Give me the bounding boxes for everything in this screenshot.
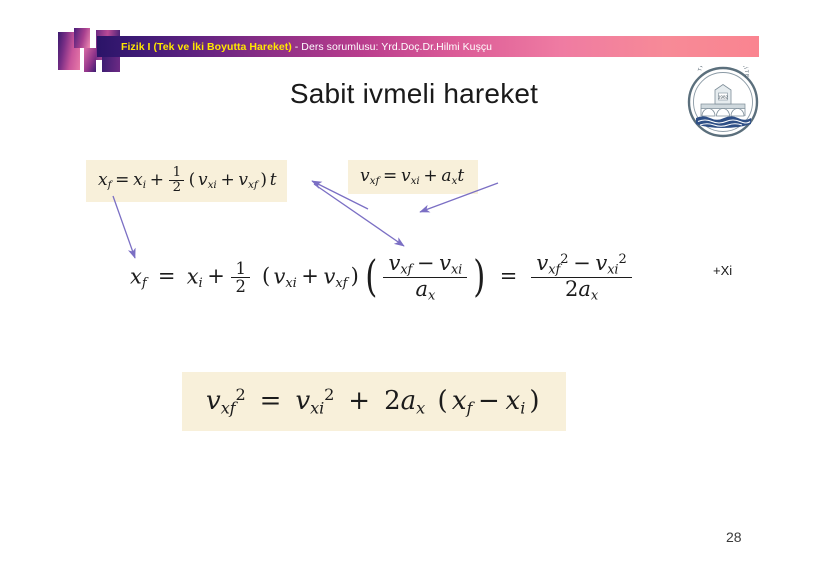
instructor-label: - Ders sorumlusu: Yrd.Doç.Dr.Hilmi Kuşçu	[292, 40, 492, 52]
logo-year-label: 1982	[718, 95, 729, 100]
equation-substituted-displacement: xf = xi+12 (vxi+vxf)(vxf−vxiax) = vxf2−v…	[130, 252, 634, 304]
deco-square-3	[84, 48, 96, 72]
arrow-eq1-to-eq3	[113, 196, 135, 258]
course-title-label: Fizik I (Tek ve İki Boyutta Hareket)	[121, 40, 292, 52]
equation-timeless-kinematics: vxf2 = vxi2 + 2ax (xf−xi)	[182, 372, 566, 431]
logo-svg: TRAKYA ÜNİVERSİTESİ 1982	[687, 66, 759, 138]
deco-square-2	[74, 28, 90, 48]
equation-final-velocity: vxf=vxi+axt	[348, 160, 478, 194]
course-header-text: Fizik I (Tek ve İki Boyutta Hareket) - D…	[121, 41, 492, 52]
trakya-universitesi-logo: TRAKYA ÜNİVERSİTESİ 1982	[687, 66, 759, 138]
equation-displacement-average-velocity: xf=xi+12(vxi+vxf)t	[86, 160, 287, 202]
page-number: 28	[726, 529, 742, 545]
course-header-bar: Fizik I (Tek ve İki Boyutta Hareket) - D…	[97, 36, 759, 57]
plus-xi-annotation: +Xi	[713, 263, 732, 278]
